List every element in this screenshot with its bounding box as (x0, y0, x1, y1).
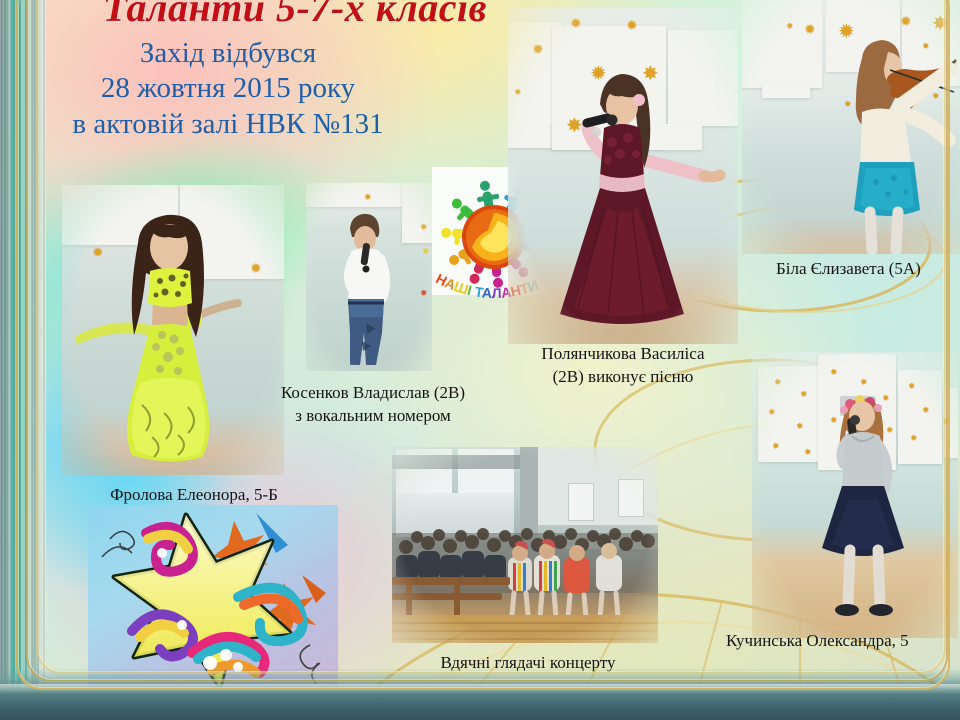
caption-girl-navy: Кучинська Олександра, 5 (726, 630, 909, 652)
caption-boy-singer: Косенков Владислав (2В) з вокальним номе… (248, 382, 498, 428)
page-title: Таланти 5-7-х класів (60, 0, 530, 31)
photo-boy-singer: ✹ ✹ ✹ ✹ (306, 183, 432, 371)
caption-boy-line2: з вокальним номером (248, 405, 498, 428)
caption-maroon-line1: Полянчикова Василіса (498, 343, 748, 366)
caption-dancer: Фролова Елеонора, 5-Б (44, 484, 344, 506)
photo-dancer: ✹ ✹ (62, 185, 284, 475)
photo-girl-maroon-dress: ✹ ✹ ✹ ✸ ✹ ✹ ✸ ✹ (508, 8, 738, 344)
decorative-left-border-stripes (0, 0, 46, 720)
decorative-bottom-sheen (0, 684, 960, 694)
caption-violinist: Біла Єлизавета (5А) (776, 258, 921, 280)
caption-maroon-line2: (2В) виконує пісню (498, 366, 748, 389)
slide-subtitle: Захід відбувся 28 жовтня 2015 року в акт… (18, 36, 438, 142)
caption-girl-maroon: Полянчикова Василіса (2В) виконує пісню (498, 343, 748, 389)
star-clipart (88, 505, 338, 693)
presentation-slide: ✹ ✹ (0, 0, 960, 720)
subtitle-line-3: в актовій залі НВК №131 (18, 107, 438, 142)
subtitle-line-2: 28 жовтня 2015 року (18, 71, 438, 106)
photo-violinist: ✹ ✹ ✹ ✹ ✸ ✹ ✹ ✹ ✹ ✹ (742, 0, 960, 254)
subtitle-line-1: Захід відбувся (18, 36, 438, 71)
caption-boy-line1: Косенков Владислав (2В) (248, 382, 498, 405)
photo-girl-navy-skirt: ✹ ✹ ✹ ✹ ✹ ✹ ✹ ✹ ✹ ✹ ✹ ✹ ✹ ✹ ✹ ✹ (752, 352, 958, 638)
decorative-bottom-border (0, 668, 960, 720)
photo-audience (392, 447, 658, 643)
